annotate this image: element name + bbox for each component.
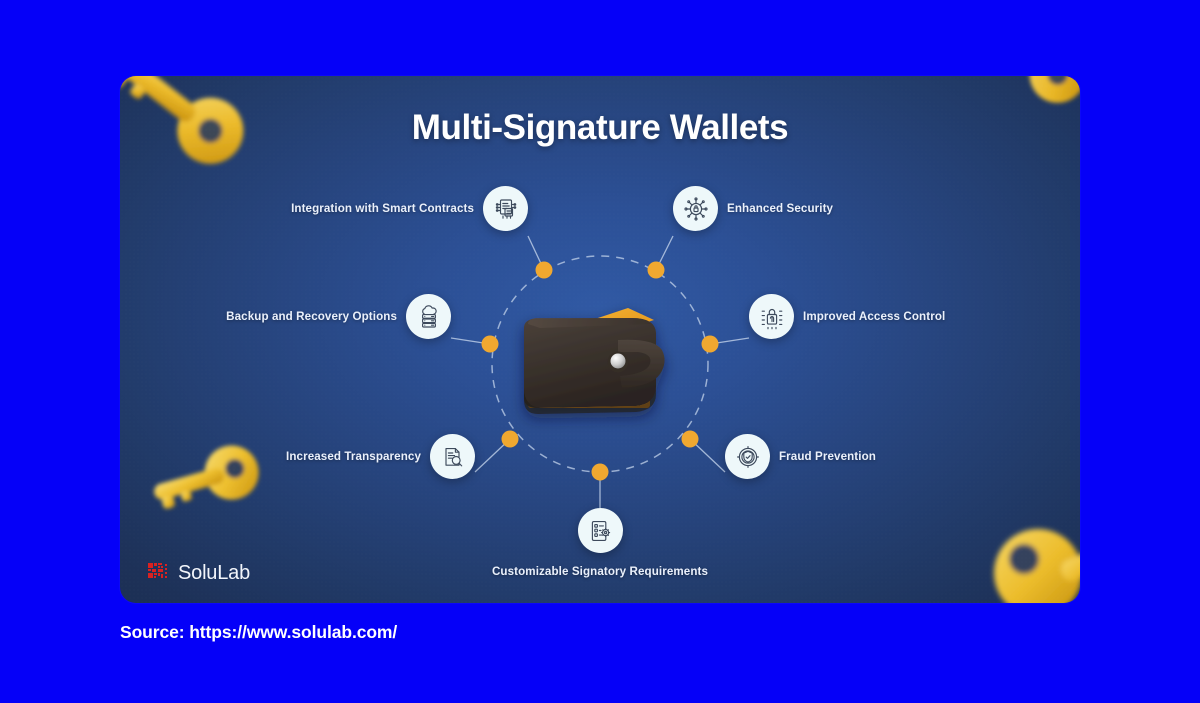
- page-background: Multi-Signature Wallets: [0, 0, 1200, 703]
- feature-enhanced-security[interactable]: Enhanced Security: [673, 186, 1003, 231]
- feature-label: Backup and Recovery Options: [226, 310, 397, 323]
- feature-backup-recovery-options[interactable]: Backup and Recovery Options: [120, 294, 451, 339]
- brand-name: SoluLab: [178, 562, 250, 585]
- cloud-server-backup-icon: [406, 294, 451, 339]
- feature-label: Customizable Signatory Requirements: [492, 565, 708, 578]
- orbit-diagram: Integration with Smart Contracts: [120, 76, 1080, 603]
- circuit-lock-icon: [673, 186, 718, 231]
- feature-label: Improved Access Control: [803, 310, 945, 323]
- feature-improved-access-control[interactable]: Improved Access Control: [749, 294, 1049, 339]
- solulab-mark-icon: [148, 563, 170, 584]
- source-caption: Source: https://www.solulab.com/: [120, 622, 397, 643]
- feature-label: Increased Transparency: [286, 450, 421, 463]
- feature-customizable-signatory-requirements[interactable]: Customizable Signatory Requirements: [400, 508, 800, 578]
- fingerprint-lock-icon: [749, 294, 794, 339]
- shield-target-icon: [725, 434, 770, 479]
- feature-label: Enhanced Security: [727, 202, 833, 215]
- feature-increased-transparency[interactable]: Increased Transparency: [175, 434, 475, 479]
- document-magnifier-icon: [430, 434, 475, 479]
- infographic-card: Multi-Signature Wallets: [120, 76, 1080, 603]
- feature-fraud-prevention[interactable]: Fraud Prevention: [725, 434, 1025, 479]
- leather-wallet-graphic: [506, 288, 694, 438]
- smart-contract-chip-icon: [483, 186, 528, 231]
- feature-label: Fraud Prevention: [779, 450, 876, 463]
- feature-integration-smart-contracts[interactable]: Integration with Smart Contracts: [180, 186, 528, 231]
- feature-label: Integration with Smart Contracts: [291, 202, 474, 215]
- checklist-gear-icon: [578, 508, 623, 553]
- brand-logo[interactable]: SoluLab: [148, 562, 250, 585]
